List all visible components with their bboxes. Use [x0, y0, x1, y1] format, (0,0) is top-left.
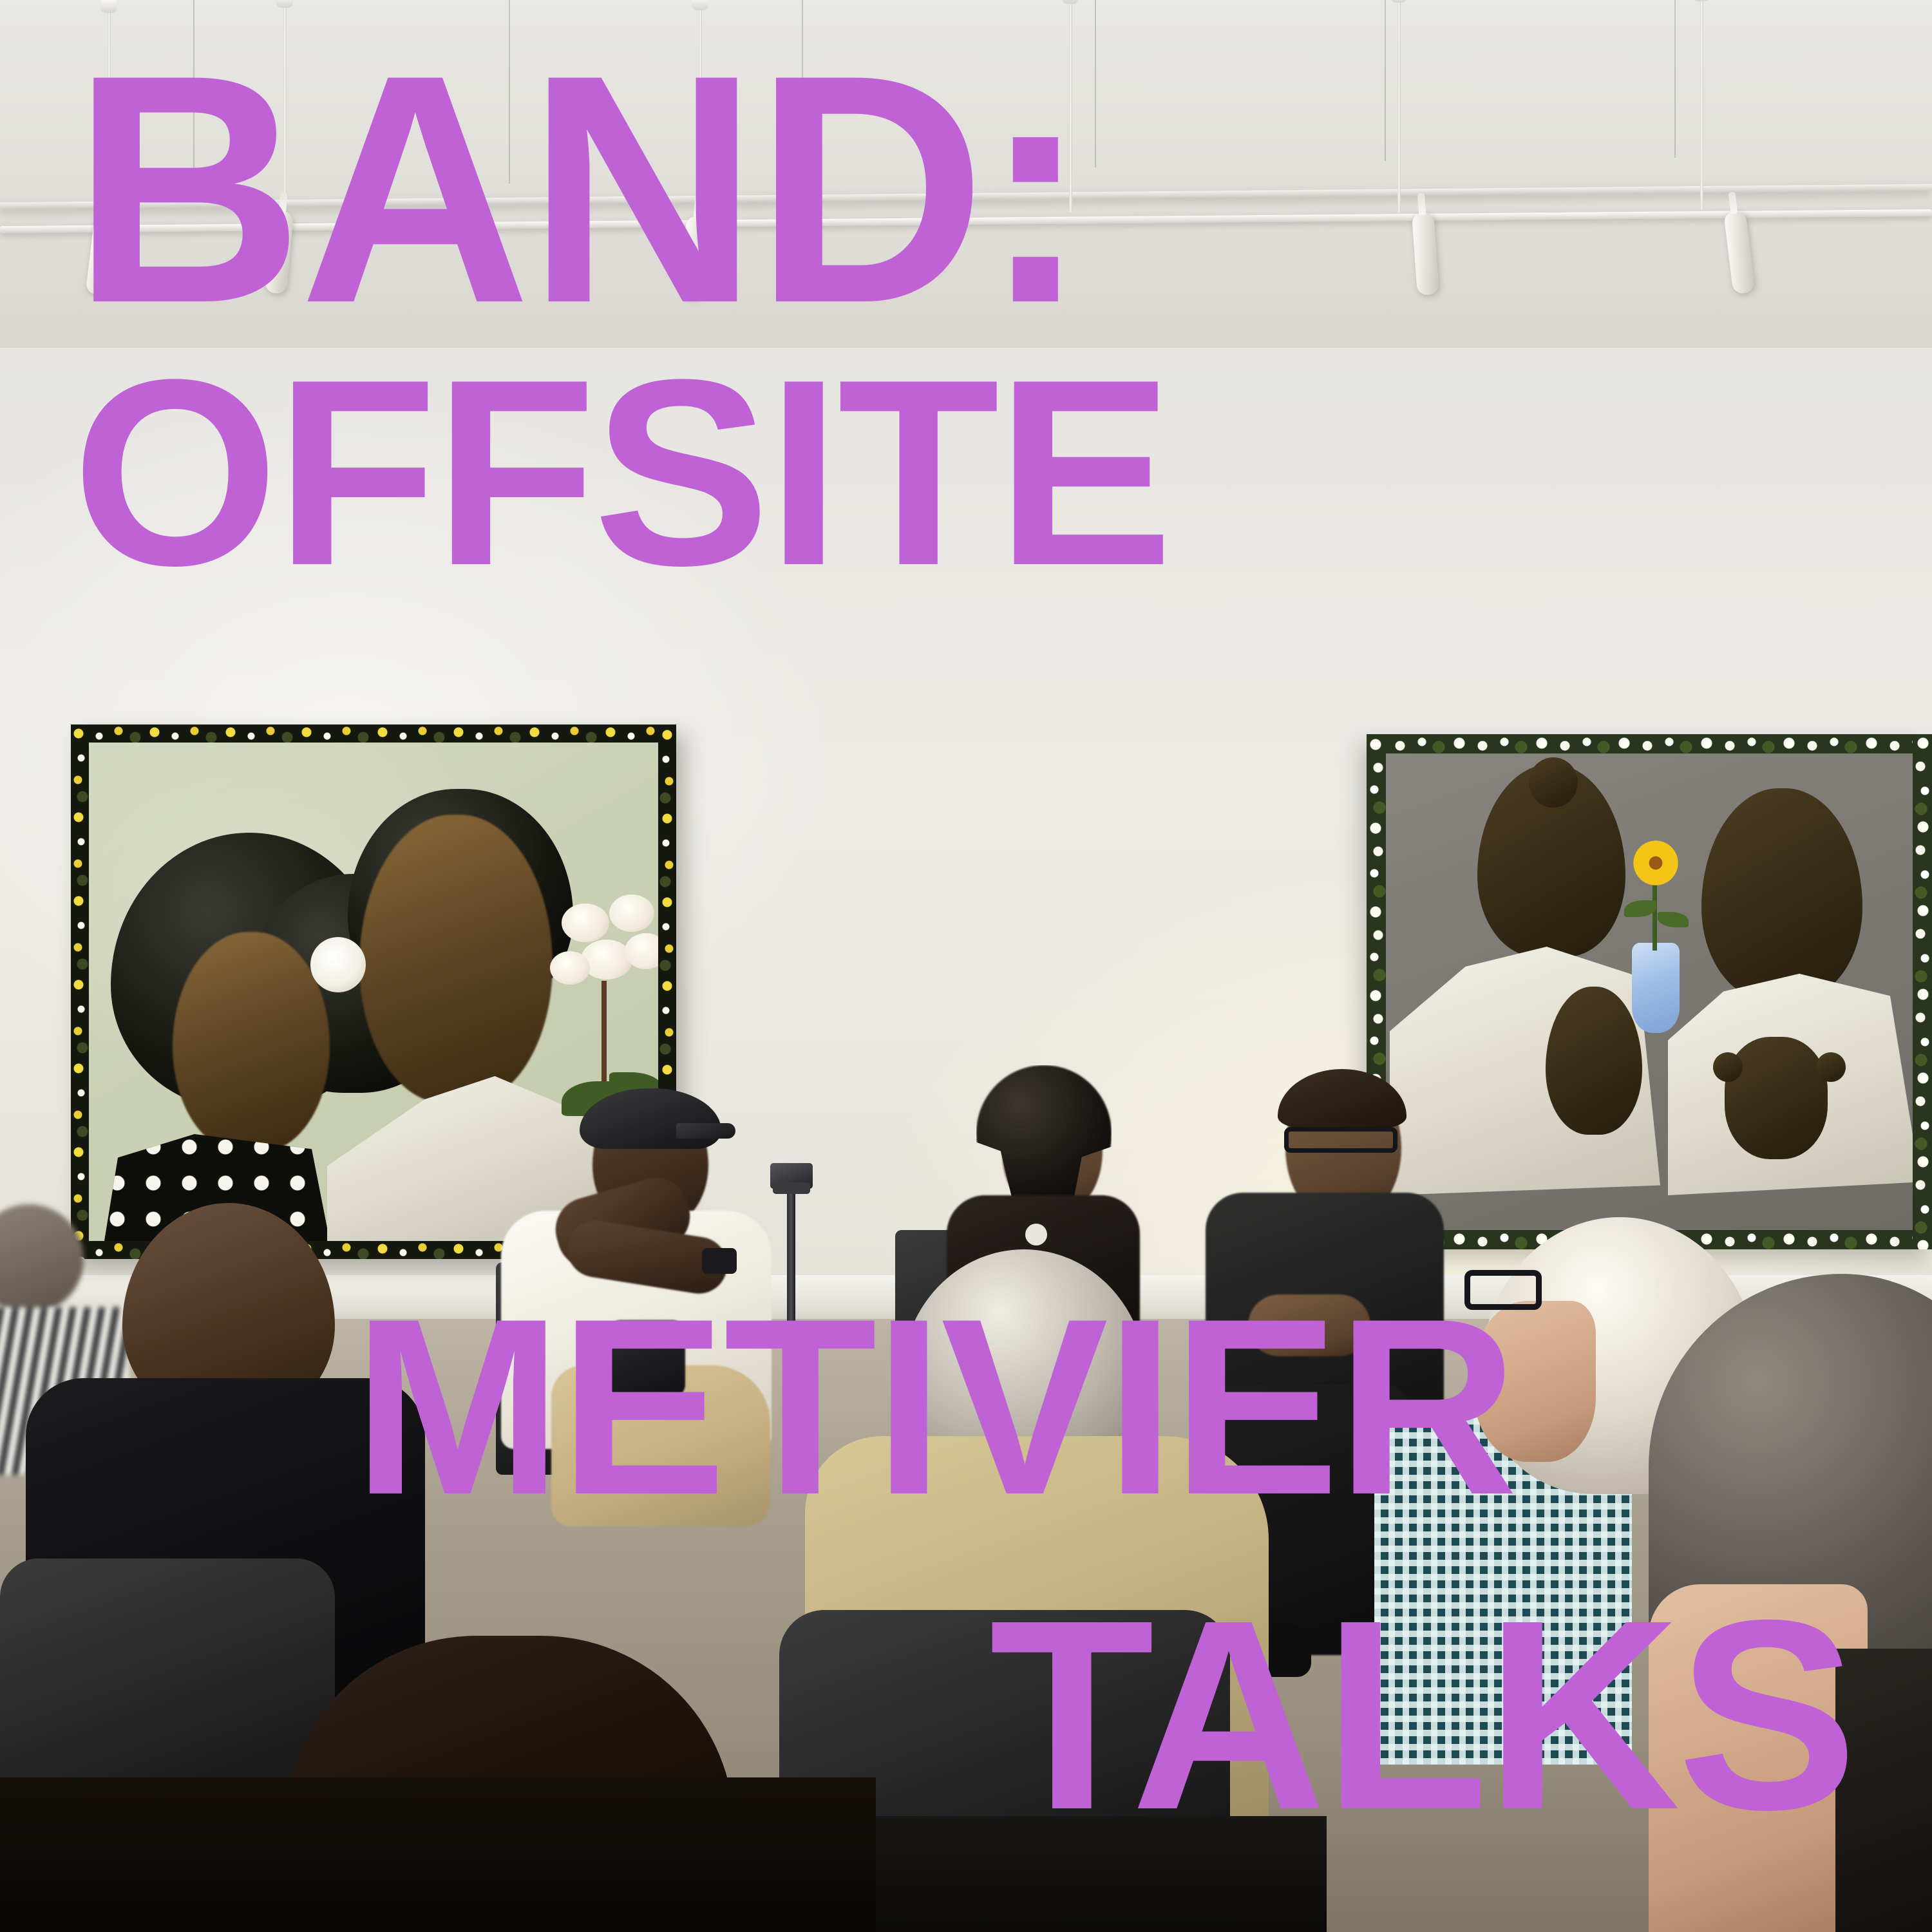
headline-line-talks: TALKS — [989, 1607, 1855, 1824]
headline-line-band: BAND: — [72, 59, 1085, 319]
headline-overlay: BAND: OFFSITE METIVIER TALKS — [0, 0, 1932, 1932]
headline-line-metivier: METIVIER — [353, 1306, 1515, 1507]
poster-canvas: BAND: OFFSITE METIVIER TALKS — [0, 0, 1932, 1932]
headline-line-offsite: OFFSITE — [72, 367, 1170, 580]
